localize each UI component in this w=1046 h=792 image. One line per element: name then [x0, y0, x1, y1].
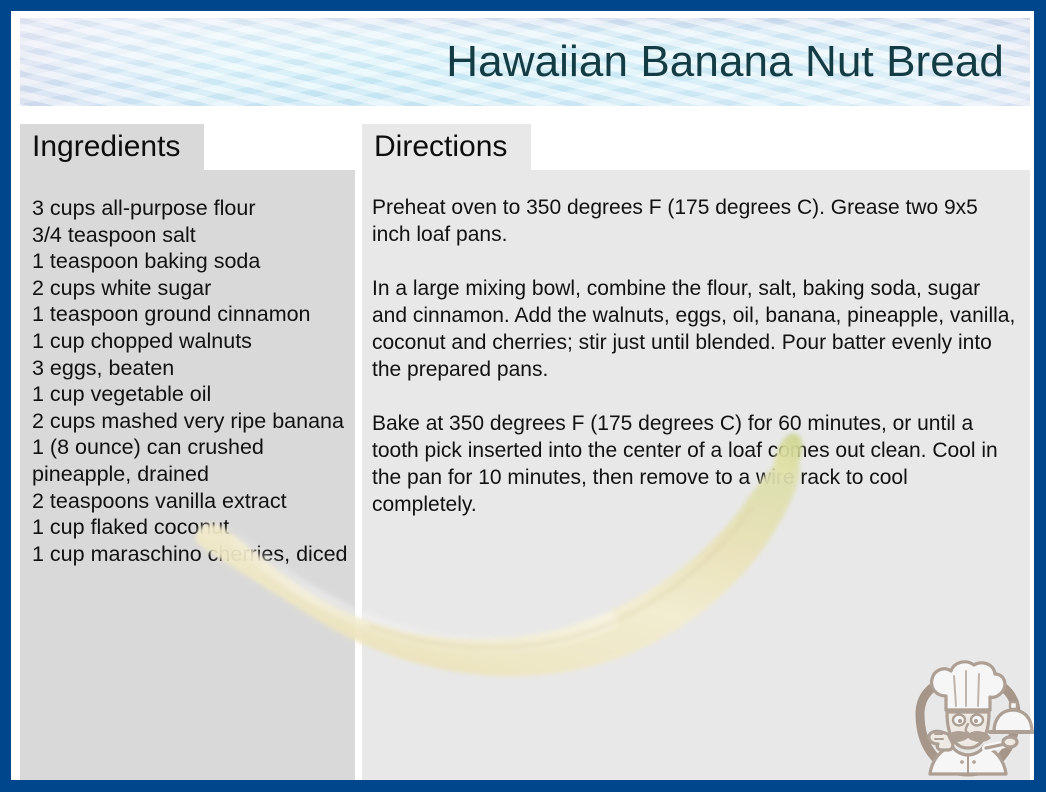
ingredient-item: 2 cups mashed very ripe banana: [32, 408, 341, 435]
directions-body: Preheat oven to 350 degrees F (175 degre…: [362, 170, 1030, 518]
ingredient-item: 2 cups white sugar: [32, 275, 341, 302]
frame-border-bottom: [0, 780, 1046, 792]
ingredient-item: 1 (8 ounce) can crushed: [32, 434, 341, 461]
ingredient-item: 1 cup chopped walnuts: [32, 328, 341, 355]
ingredient-item: 1 cup flaked coconut: [32, 514, 341, 541]
ingredients-panel: 3 cups all-purpose flour3/4 teaspoon sal…: [20, 170, 355, 785]
directions-panel: Preheat oven to 350 degrees F (175 degre…: [362, 170, 1030, 785]
frame-border-top: [0, 0, 1046, 11]
frame-border-left: [0, 0, 11, 792]
recipe-slide: Hawaiian Banana Nut Bread Ingredients Di…: [0, 0, 1046, 792]
page-title: Hawaiian Banana Nut Bread: [446, 40, 1004, 84]
ingredient-item: 3 eggs, beaten: [32, 355, 341, 382]
ingredient-item: 3 cups all-purpose flour: [32, 195, 341, 222]
tab-directions-label: Directions: [374, 130, 507, 163]
ingredients-list: 3 cups all-purpose flour3/4 teaspoon sal…: [20, 170, 355, 567]
tab-directions[interactable]: Directions: [362, 124, 531, 171]
direction-paragraph: In a large mixing bowl, combine the flou…: [372, 275, 1018, 383]
direction-paragraph: Preheat oven to 350 degrees F (175 degre…: [372, 194, 1018, 248]
ingredient-item: 1 teaspoon baking soda: [32, 248, 341, 275]
ingredient-item: 2 teaspoons vanilla extract: [32, 488, 341, 515]
direction-paragraph: Bake at 350 degrees F (175 degrees C) fo…: [372, 410, 1018, 518]
tab-ingredients[interactable]: Ingredients: [20, 124, 204, 171]
frame-border-right: [1034, 0, 1046, 792]
ingredient-item: 1 cup maraschino cherries, diced: [32, 541, 341, 568]
ingredient-item: pineapple, drained: [32, 461, 341, 488]
tab-ingredients-label: Ingredients: [32, 130, 180, 163]
ingredient-item: 3/4 teaspoon salt: [32, 222, 341, 249]
ingredient-item: 1 cup vegetable oil: [32, 381, 341, 408]
header-banner: Hawaiian Banana Nut Bread: [20, 18, 1030, 106]
ingredient-item: 1 teaspoon ground cinnamon: [32, 301, 341, 328]
